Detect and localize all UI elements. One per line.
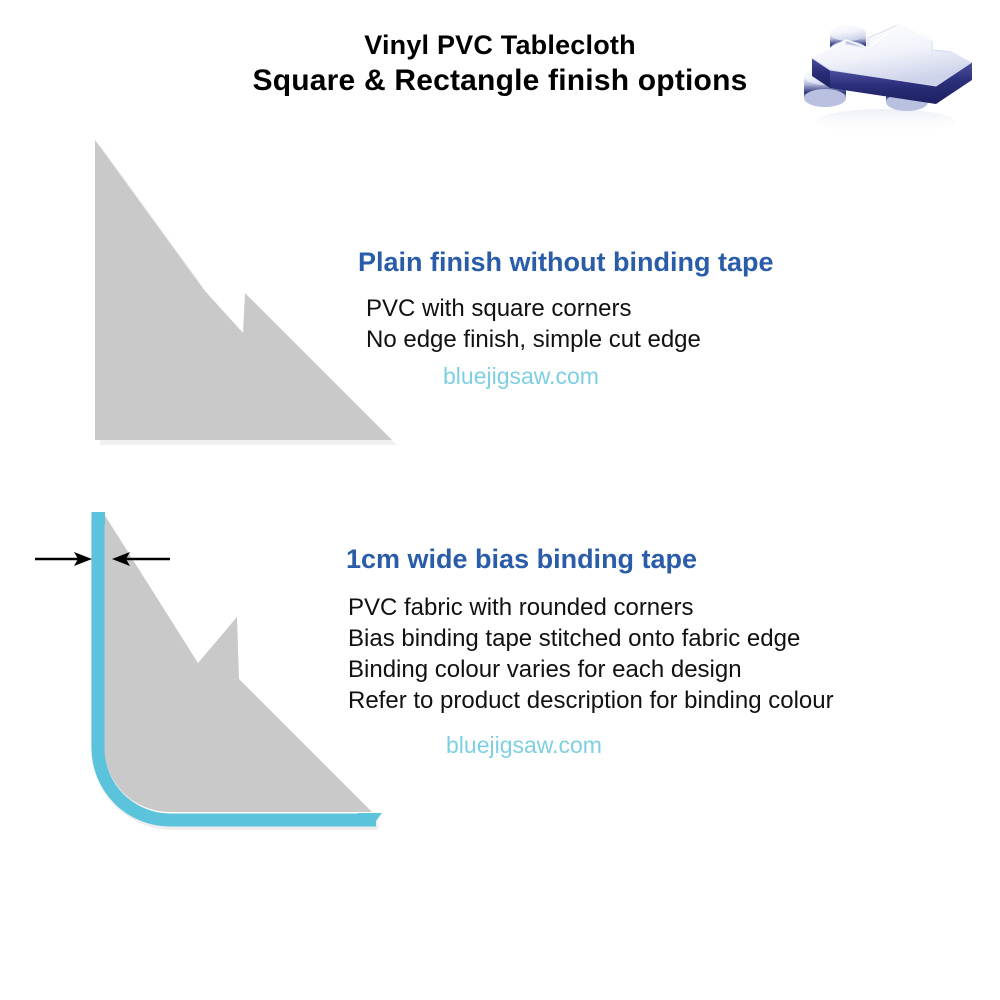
section-plain-line-1: PVC with square corners <box>366 293 773 324</box>
bias-binding-corner-diagram <box>35 512 382 826</box>
section-plain-brand: bluejigsaw.com <box>443 361 773 391</box>
finish-options-diagrams <box>0 0 1000 1000</box>
section-plain-heading: Plain finish without binding tape <box>358 245 773 279</box>
plain-finish-corner-diagram <box>95 140 397 445</box>
tape-width-dimension-arrows <box>35 552 170 566</box>
section-bias-lines: PVC fabric with rounded corners Bias bin… <box>348 592 834 716</box>
dimension-arrow-left-head <box>74 552 92 566</box>
section-bias-brand: bluejigsaw.com <box>446 730 834 760</box>
section-plain-line-2: No edge finish, simple cut edge <box>366 324 773 355</box>
section-bias-heading: 1cm wide bias binding tape <box>346 542 834 576</box>
section-bias-binding: 1cm wide bias binding tape PVC fabric wi… <box>346 542 834 760</box>
section-bias-line-1: PVC fabric with rounded corners <box>348 592 834 623</box>
section-plain-lines: PVC with square corners No edge finish, … <box>366 293 773 355</box>
bias-binding-tape <box>98 512 376 820</box>
section-bias-line-2: Bias binding tape stitched onto fabric e… <box>348 623 834 654</box>
pvc-fabric-body <box>104 514 372 812</box>
jigsaw-puzzle-piece-logo <box>790 18 990 143</box>
section-bias-line-3: Binding colour varies for each design <box>348 654 834 685</box>
dimension-arrow-right-head <box>112 552 130 566</box>
section-bias-line-4: Refer to product description for binding… <box>348 685 834 716</box>
section-plain-finish: Plain finish without binding tape PVC wi… <box>358 245 773 391</box>
page-canvas: Vinyl PVC Tablecloth Square & Rectangle … <box>0 0 1000 1000</box>
